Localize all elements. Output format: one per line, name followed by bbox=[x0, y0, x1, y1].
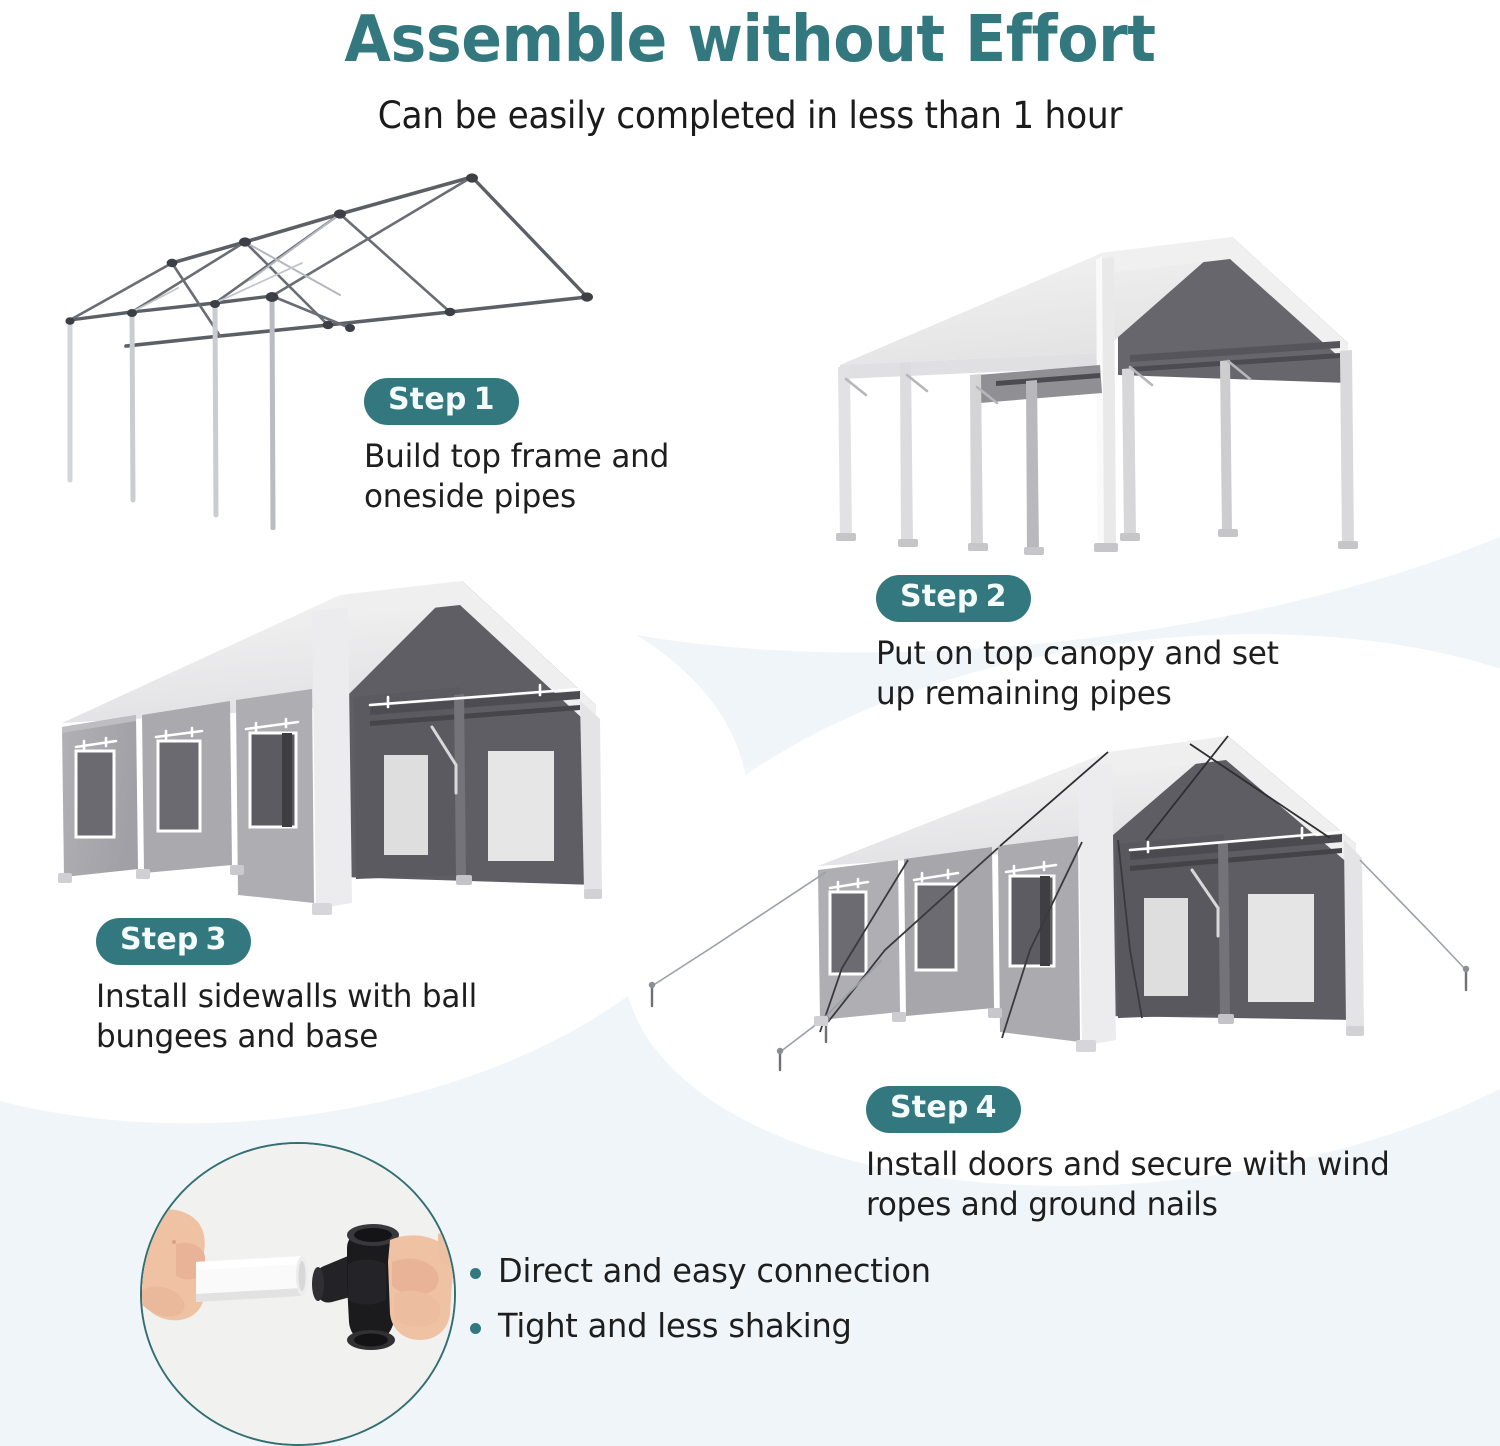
step-block-3: Step3 Install sidewalls with ball bungee… bbox=[96, 918, 489, 1057]
illustration-step-4 bbox=[630, 720, 1470, 1085]
frame-pipes bbox=[70, 177, 587, 346]
right-hand bbox=[388, 1233, 454, 1340]
door-divider-post bbox=[1218, 841, 1230, 1018]
step-badge-number-3: 3 bbox=[206, 922, 227, 957]
step-badge-label-4: Step bbox=[890, 1090, 969, 1125]
step-block-2: Step2 Put on top canopy and set up remai… bbox=[876, 575, 1291, 714]
step-badge-label-1: Step bbox=[388, 382, 467, 417]
header: Assemble without Effort Can be easily co… bbox=[0, 0, 1500, 137]
left-hand bbox=[142, 1209, 205, 1320]
step-description-1: Build top frame and oneside pipes bbox=[364, 436, 669, 518]
page-title: Assemble without Effort bbox=[45, 8, 1455, 72]
white-pipe bbox=[196, 1256, 308, 1302]
illustration-step-2 bbox=[800, 215, 1400, 580]
leg-feet bbox=[836, 529, 1358, 555]
feature-bullet-list: Direct and easy connection Tight and les… bbox=[470, 1250, 944, 1360]
bullet-dot-icon bbox=[470, 1323, 481, 1334]
step-badge-number-4: 4 bbox=[976, 1090, 997, 1125]
sidewall-windows-4 bbox=[830, 876, 1054, 974]
step-block-1: Step1 Build top frame and oneside pipes bbox=[364, 378, 679, 517]
step-badge-4: Step4 bbox=[866, 1086, 1021, 1133]
illustration-step-3 bbox=[40, 555, 640, 950]
step-badge-number-2: 2 bbox=[986, 579, 1007, 614]
page-subtitle: Can be easily completed in less than 1 h… bbox=[53, 94, 1448, 137]
front-frame-band bbox=[312, 607, 352, 909]
hands-connecting-pipe-illustration bbox=[142, 1144, 454, 1444]
step-badge-number-1: 1 bbox=[474, 382, 495, 417]
bullet-text-1: Direct and easy connection bbox=[498, 1250, 931, 1293]
step-badge-1: Step1 bbox=[364, 378, 519, 425]
list-item: Direct and easy connection bbox=[470, 1250, 944, 1293]
step-badge-label-3: Step bbox=[120, 922, 199, 957]
list-item: Tight and less shaking bbox=[470, 1305, 944, 1348]
detail-photo-circle bbox=[140, 1142, 456, 1446]
step-description-3: Install sidewalls with ball bungees and … bbox=[96, 976, 477, 1058]
step-badge-3: Step3 bbox=[96, 918, 251, 965]
step-block-4: Step4 Install doors and secure with wind… bbox=[866, 1086, 1406, 1225]
step-badge-label-2: Step bbox=[900, 579, 979, 614]
bullet-text-2: Tight and less shaking bbox=[498, 1305, 852, 1348]
step-description-2: Put on top canopy and set up remaining p… bbox=[876, 633, 1279, 715]
frame-connectors bbox=[65, 173, 593, 332]
infographic-stage: Assemble without Effort Can be easily co… bbox=[0, 0, 1500, 1446]
step-description-4: Install doors and secure with wind ropes… bbox=[866, 1144, 1390, 1226]
bullet-dot-icon bbox=[470, 1268, 481, 1279]
step-badge-2: Step2 bbox=[876, 575, 1031, 622]
